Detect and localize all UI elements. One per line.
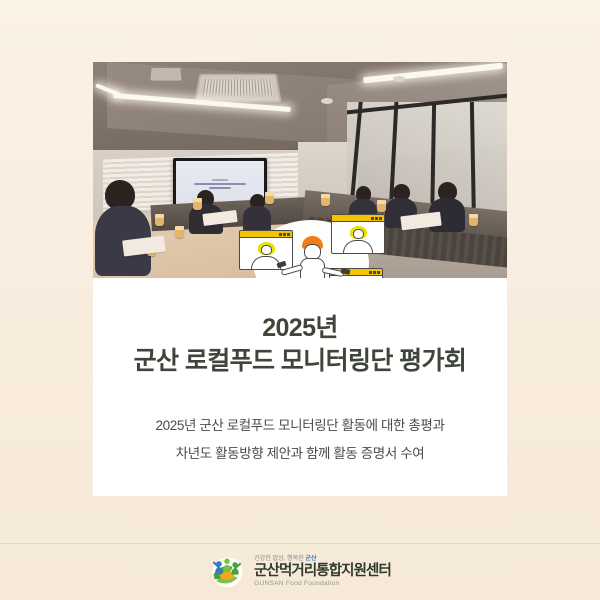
text-block: 2025년 군산 로컬푸드 모니터링단 평가회 2025년 군산 로컬푸드 모니…: [93, 278, 507, 496]
participant: [95, 180, 151, 276]
ceiling-speaker-icon: [321, 98, 333, 104]
footer: 건강한 밥상, 행복한 군산 군산먹거리통합지원센터 GUNSAN Food F…: [0, 543, 600, 600]
gunsan-food-foundation-logo-icon: [209, 555, 245, 589]
paper-cup: [469, 214, 478, 226]
video-window-titlebar: [240, 231, 292, 238]
avatar-torso: [343, 240, 373, 253]
subtitle-line-1: 2025년 군산 로컬푸드 모니터링단 활동에 대한 총평과: [93, 412, 507, 440]
title-line-2: 군산 로컬푸드 모니터링단 평가회: [93, 345, 507, 378]
content-card: 2025년 군산 로컬푸드 모니터링단 평가회 2025년 군산 로컬푸드 모니…: [93, 62, 507, 496]
avatar-face: [261, 245, 272, 255]
page-subtitle: 2025년 군산 로컬푸드 모니터링단 활동에 대한 총평과 차년도 활동방향 …: [93, 412, 507, 467]
slide-text-line: [209, 187, 231, 189]
video-window: [331, 214, 385, 254]
presenter-figure: [293, 236, 333, 278]
slide-text-line: [212, 179, 228, 181]
ceiling-speaker-icon: [393, 76, 405, 82]
ceiling-ac-unit-icon: [194, 74, 281, 102]
slide-text-line: [194, 183, 246, 185]
paper-cup: [321, 194, 330, 206]
paper-cup: [265, 192, 274, 204]
presenter-body: [300, 258, 325, 278]
page-title: 2025년 군산 로컬푸드 모니터링단 평가회: [93, 312, 507, 378]
video-window-titlebar: [332, 215, 384, 222]
meeting-room-photo: [93, 62, 507, 278]
paper-cup: [193, 198, 202, 210]
ceiling-vent-icon: [150, 68, 181, 81]
footer-tagline: 건강한 밥상, 행복한 군산: [254, 556, 391, 562]
footer-organization-name: 군산먹거리통합지원센터: [254, 564, 391, 579]
title-line-1: 2025년: [93, 312, 507, 345]
online-meeting-illustration: [235, 208, 385, 278]
avatar-face: [353, 229, 364, 239]
poster-background: 2025년 군산 로컬푸드 모니터링단 평가회 2025년 군산 로컬푸드 모니…: [0, 0, 600, 600]
paper-cup: [175, 226, 184, 238]
subtitle-line-2: 차년도 활동방향 제안과 함께 활동 증명서 수여: [93, 440, 507, 468]
paper-cup: [155, 214, 164, 226]
footer-tagline-prefix: 건강한 밥상, 행복한: [254, 555, 305, 562]
footer-tagline-highlight: 군산: [305, 555, 316, 562]
footer-organization-name-en: GUNSAN Food Foundation: [254, 581, 391, 588]
footer-logo-text: 건강한 밥상, 행복한 군산 군산먹거리통합지원센터 GUNSAN Food F…: [254, 556, 391, 587]
